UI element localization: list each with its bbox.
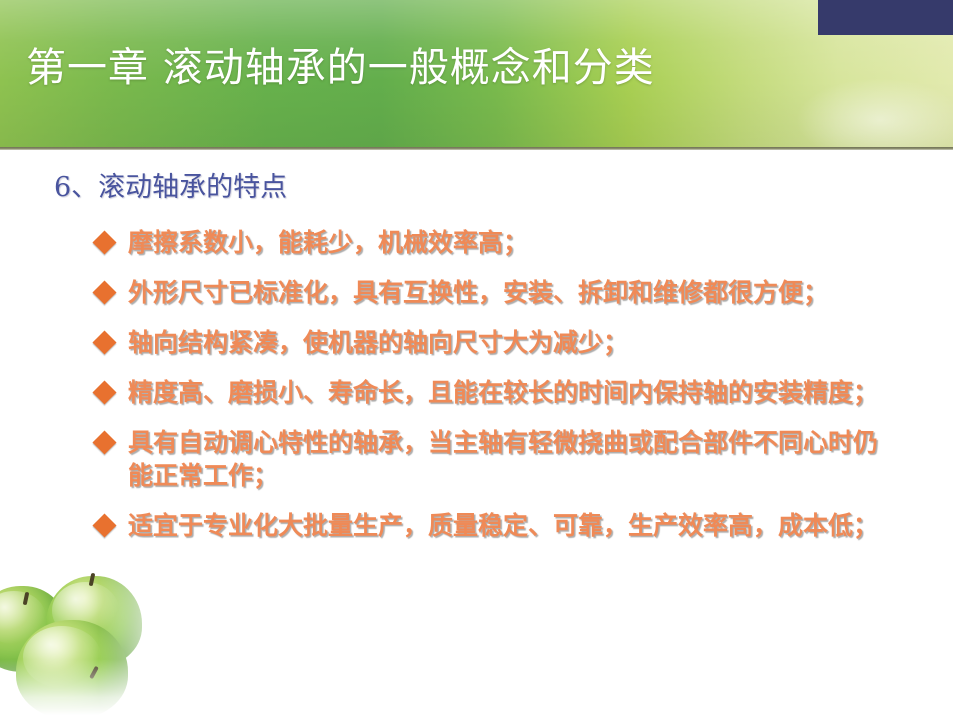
presentation-slide: 第一章 滚动轴承的一般概念和分类 6、滚动轴承的特点 摩擦系数小，能耗少，机械效…: [0, 0, 953, 715]
diamond-bullet-icon: [92, 330, 116, 354]
list-item-label: 精度高、磨损小、寿命长，且能在较长的时间内保持轴的安装精度；: [128, 378, 878, 407]
list-item-label: 轴向结构紧凑，使机器的轴向尺寸大为减少；: [128, 328, 628, 357]
diamond-bullet-icon: [92, 280, 116, 304]
list-item: 具有自动调心特性的轴承，当主轴有轻微挠曲或配合部件不同心时仍能正常工作；: [96, 426, 896, 492]
apple-shape: [16, 620, 128, 715]
diamond-bullet-icon: [92, 230, 116, 254]
apple-highlight: [23, 626, 101, 688]
list-item: 轴向结构紧凑，使机器的轴向尺寸大为减少；: [96, 326, 896, 359]
bullet-list: 摩擦系数小，能耗少，机械效率高； 外形尺寸已标准化，具有互换性，安装、拆卸和维修…: [96, 226, 896, 559]
list-item-label: 具有自动调心特性的轴承，当主轴有轻微挠曲或配合部件不同心时仍能正常工作；: [128, 428, 878, 490]
diamond-bullet-icon: [92, 380, 116, 404]
list-item: 摩擦系数小，能耗少，机械效率高；: [96, 226, 896, 259]
diamond-bullet-icon: [92, 513, 116, 537]
list-item: 外形尺寸已标准化，具有互换性，安装、拆卸和维修都很方便；: [96, 276, 896, 309]
list-item-label: 外形尺寸已标准化，具有互换性，安装、拆卸和维修都很方便；: [128, 278, 828, 307]
slide-title: 第一章 滚动轴承的一般概念和分类: [26, 40, 826, 96]
list-item-label: 适宜于专业化大批量生产，质量稳定、可靠，生产效率高，成本低；: [128, 511, 878, 540]
list-item-label: 摩擦系数小，能耗少，机械效率高；: [128, 228, 528, 257]
green-apples-photo: [0, 568, 184, 715]
section-heading: 6、滚动轴承的特点: [54, 171, 287, 205]
diamond-bullet-icon: [92, 430, 116, 454]
header-navy-accent-tab: [818, 0, 953, 35]
list-item: 适宜于专业化大批量生产，质量稳定、可靠，生产效率高，成本低；: [96, 509, 896, 542]
list-item: 精度高、磨损小、寿命长，且能在较长的时间内保持轴的安装精度；: [96, 376, 896, 409]
